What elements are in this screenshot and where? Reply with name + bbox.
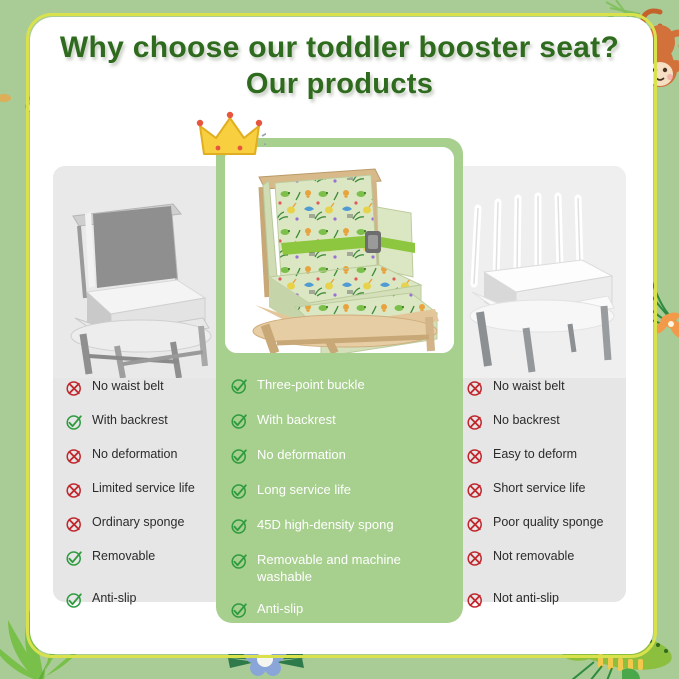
infographic-root: Why choose our toddler booster seat? Our…: [0, 0, 679, 679]
feature-label: Removable: [92, 548, 155, 564]
check-icon: [230, 447, 249, 466]
feature-item: Not anti-slip: [466, 590, 616, 610]
feature-item: Short service life: [466, 480, 616, 500]
feature-label: With backrest: [257, 411, 336, 428]
feature-item: Long service life: [230, 481, 453, 501]
product-image-left: [53, 166, 225, 378]
comparison-card-right: No waist beltNo backrestEasy to deformSh…: [454, 166, 626, 602]
product-image-center: [225, 147, 454, 353]
check-icon: [65, 591, 84, 610]
check-icon: [230, 517, 249, 536]
cross-icon: [65, 447, 84, 466]
feature-item: Ordinary sponge: [65, 514, 215, 534]
feature-label: 45D high-density spong: [257, 516, 394, 533]
feature-item: 45D high-density spong: [230, 516, 453, 536]
feature-label: Anti-slip: [92, 590, 136, 606]
feature-label: No deformation: [257, 446, 346, 463]
feature-label: Poor quality sponge: [493, 514, 604, 530]
cross-icon: [466, 379, 485, 398]
check-icon: [65, 413, 84, 432]
feature-list-left: No waist beltWith backrestNo deformation…: [53, 378, 225, 624]
feature-item: Easy to deform: [466, 446, 616, 466]
feature-label: Long service life: [257, 481, 351, 498]
feature-item: No waist belt: [65, 378, 215, 398]
page-title: Why choose our toddler booster seat? Our…: [0, 30, 679, 102]
feature-label: Not anti-slip: [493, 590, 559, 606]
feature-label: Ordinary sponge: [92, 514, 184, 530]
feature-item: With backrest: [65, 412, 215, 432]
check-icon: [230, 601, 249, 620]
page-title-line-1: Why choose our toddler booster seat?: [0, 30, 679, 66]
feature-list-right: No waist beltNo backrestEasy to deformSh…: [454, 378, 626, 624]
feature-label: No deformation: [92, 446, 177, 462]
feature-label: With backrest: [92, 412, 168, 428]
feature-label: No backrest: [493, 412, 560, 428]
cross-icon: [466, 447, 485, 466]
cross-icon: [466, 481, 485, 500]
feature-item: With backrest: [230, 411, 453, 431]
cross-icon: [466, 413, 485, 432]
cross-icon: [65, 515, 84, 534]
check-icon: [230, 552, 249, 571]
feature-label: Three-point buckle: [257, 376, 365, 393]
feature-item: Removable and machine washable: [230, 551, 453, 585]
feature-label: Short service life: [493, 480, 585, 496]
feature-label: Anti-slip: [257, 600, 303, 617]
crown-icon: [196, 110, 266, 160]
feature-item: Not removable: [466, 548, 616, 568]
feature-label: Removable and machine washable: [257, 551, 453, 585]
cross-icon: [65, 379, 84, 398]
feature-item: Three-point buckle: [230, 376, 453, 396]
feature-item: Anti-slip: [230, 600, 453, 620]
feature-item: Limited service life: [65, 480, 215, 500]
cross-icon: [466, 591, 485, 610]
cross-icon: [466, 515, 485, 534]
feature-label: Not removable: [493, 548, 574, 564]
feature-list-center: Three-point buckleWith backrestNo deform…: [216, 376, 463, 635]
feature-label: Limited service life: [92, 480, 195, 496]
check-icon: [230, 377, 249, 396]
feature-item: Poor quality sponge: [466, 514, 616, 534]
feature-label: No waist belt: [493, 378, 565, 394]
feature-item: Anti-slip: [65, 590, 215, 610]
product-image-right: [454, 166, 626, 378]
comparison-card-left: No waist beltWith backrestNo deformation…: [53, 166, 225, 602]
check-icon: [230, 412, 249, 431]
check-icon: [65, 549, 84, 568]
feature-item: No deformation: [230, 446, 453, 466]
check-icon: [230, 482, 249, 501]
feature-item: Removable: [65, 548, 215, 568]
feature-label: No waist belt: [92, 378, 164, 394]
feature-item: No deformation: [65, 446, 215, 466]
comparison-card-center: Three-point buckleWith backrestNo deform…: [216, 138, 463, 623]
feature-item: No backrest: [466, 412, 616, 432]
page-title-line-2: Our products: [0, 66, 679, 102]
feature-item: No waist belt: [466, 378, 616, 398]
feature-label: Easy to deform: [493, 446, 577, 462]
cross-icon: [466, 549, 485, 568]
cross-icon: [65, 481, 84, 500]
